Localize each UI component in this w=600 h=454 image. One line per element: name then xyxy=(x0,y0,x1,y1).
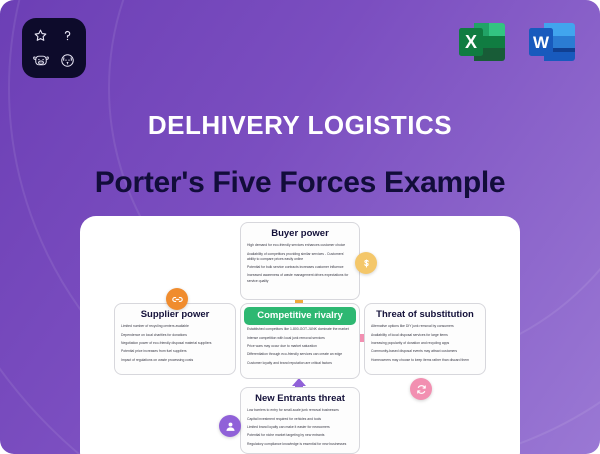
force-points: Low barriers to entry for small-scale ju… xyxy=(241,408,359,454)
force-point: Increased awareness of waste management … xyxy=(247,273,353,283)
force-point: Differentiation through eco-friendly ser… xyxy=(247,352,353,357)
force-point: Potential price increases from fuel supp… xyxy=(121,349,229,354)
force-point: Intense competition with local junk remo… xyxy=(247,336,353,341)
force-box-new-entrants-threat[interactable]: New Entrants threat Low barriers to entr… xyxy=(240,387,360,454)
force-point: Customer loyalty and brand reputation ar… xyxy=(247,361,353,366)
force-title: Competitive rivalry xyxy=(244,307,356,325)
force-box-competitive-rivalry[interactable]: Competitive rivalry Established competit… xyxy=(240,303,360,379)
force-point: Dependence on local charities for donati… xyxy=(121,333,229,338)
force-point: Impact of regulations on waste processin… xyxy=(121,358,229,363)
force-point: Limited brand loyalty can make it easier… xyxy=(247,425,353,430)
force-point: Limited number of recycling centers avai… xyxy=(121,324,229,329)
force-point: Low barriers to entry for small-scale ju… xyxy=(247,408,353,413)
recycle-icon xyxy=(410,378,432,400)
force-point: Established competitors like 1-800-GOT-J… xyxy=(247,327,353,332)
force-box-buyer-power[interactable]: Buyer power High demand for eco-friendly… xyxy=(240,222,360,300)
force-point: Capital investment required for vehicles… xyxy=(247,417,353,422)
force-points: Established competitors like 1-800-GOT-J… xyxy=(241,327,359,373)
force-point: Potential for bulk service contracts inc… xyxy=(247,265,353,270)
force-box-supplier-power[interactable]: Supplier power Limited number of recycli… xyxy=(114,303,236,375)
force-title: Threat of substitution xyxy=(365,304,485,324)
force-title: New Entrants threat xyxy=(241,388,359,408)
force-point: Regulatory compliance knowledge is essen… xyxy=(247,442,353,447)
force-point: Alternative options like DIY junk remova… xyxy=(371,324,479,329)
user-icon xyxy=(219,415,241,437)
force-point: Community-based disposal events may attr… xyxy=(371,349,479,354)
force-title: Buyer power xyxy=(241,223,359,243)
link-icon xyxy=(166,288,188,310)
force-point: High demand for eco-friendly services en… xyxy=(247,243,353,248)
force-point: Price wars may occur due to market satur… xyxy=(247,344,353,349)
force-point: Availability of competitors providing si… xyxy=(247,252,353,262)
force-point: Homeowners may choose to keep items rath… xyxy=(371,358,479,363)
force-point: Increasing popularity of donation and re… xyxy=(371,341,479,346)
slide-canvas: X W DELHIVERY LOGISTICS Porter's Five Fo… xyxy=(0,0,600,454)
force-points: High demand for eco-friendly services en… xyxy=(241,243,359,291)
force-point: Availability of local disposal services … xyxy=(371,333,479,338)
force-points: Alternative options like DIY junk remova… xyxy=(365,324,485,370)
force-points: Limited number of recycling centers avai… xyxy=(115,324,235,370)
force-point: Potential for niche market targeting by … xyxy=(247,433,353,438)
force-box-threat-of-substitution[interactable]: Threat of substitution Alternative optio… xyxy=(364,303,486,375)
force-point: Negotiation power of eco-friendly dispos… xyxy=(121,341,229,346)
money-icon xyxy=(355,252,377,274)
porters-five-forces-diagram: Buyer power High demand for eco-friendly… xyxy=(0,0,600,454)
